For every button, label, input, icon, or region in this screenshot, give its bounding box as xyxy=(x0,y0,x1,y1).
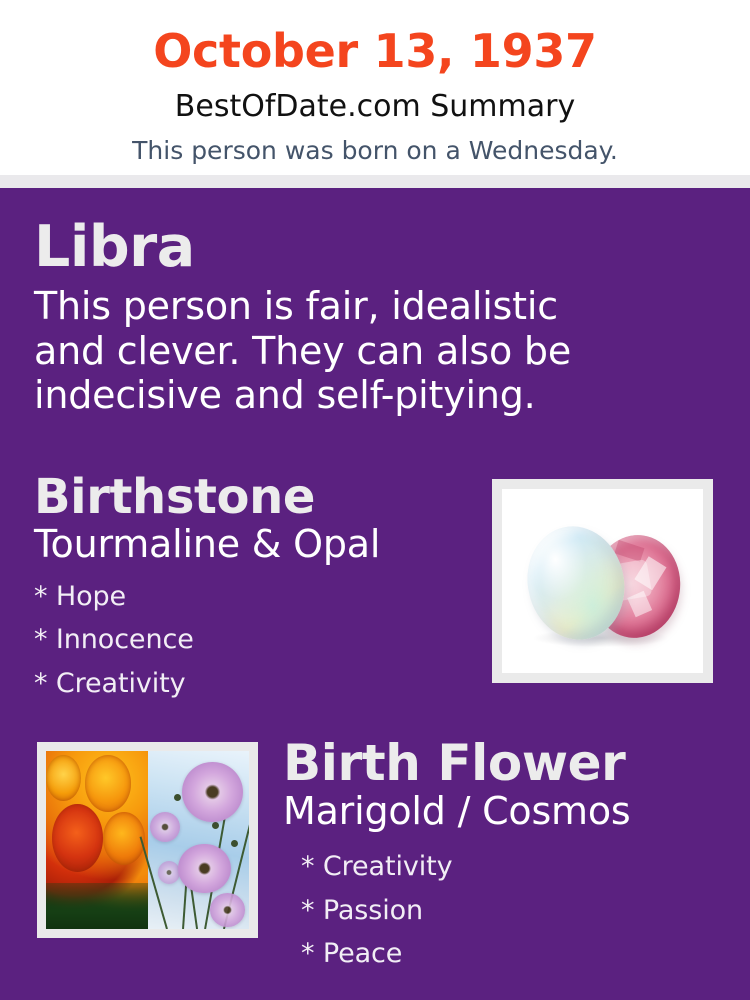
page-title: October 13, 1937 xyxy=(0,0,750,74)
cosmos-bloom xyxy=(178,844,231,894)
cosmos-bud xyxy=(231,840,238,847)
marigold-bloom xyxy=(85,755,132,812)
birthstone-image xyxy=(502,489,703,673)
birthstone-value: Tourmaline & Opal xyxy=(34,524,464,566)
marigold-bloom xyxy=(52,804,103,872)
birth-flower-heading: Birth Flower xyxy=(283,738,723,789)
birth-flower-value: Marigold / Cosmos xyxy=(283,791,723,833)
marigold-photo-icon xyxy=(46,751,148,929)
cosmos-photo-icon xyxy=(148,751,250,929)
birthstone-heading: Birthstone xyxy=(34,473,464,522)
cosmos-bloom xyxy=(182,762,243,823)
list-item: * Passion xyxy=(301,889,723,933)
summary-body: Libra This person is fair, idealistic an… xyxy=(0,188,750,1000)
site-summary-label: BestOfDate.com Summary xyxy=(0,74,750,122)
page-header: October 13, 1937 BestOfDate.com Summary … xyxy=(0,0,750,175)
birthstone-image-frame xyxy=(492,479,713,683)
cosmos-bud xyxy=(212,822,219,829)
list-item: * Creativity xyxy=(34,662,464,706)
header-divider xyxy=(0,175,750,188)
birth-flower-trait-list: * Creativity * Passion * Peace xyxy=(301,845,723,976)
cosmos-bloom xyxy=(210,893,245,927)
cosmos-bloom xyxy=(150,812,180,842)
cosmos-bloom xyxy=(158,861,180,884)
zodiac-section: Libra This person is fair, idealistic an… xyxy=(34,218,634,417)
cosmos-bud xyxy=(174,794,181,801)
list-item: * Peace xyxy=(301,932,723,976)
birthstone-trait-list: * Hope * Innocence * Creativity xyxy=(34,575,464,706)
birthstone-section: Birthstone Tourmaline & Opal * Hope * In… xyxy=(34,473,464,706)
birth-flower-image-frame xyxy=(37,742,258,938)
list-item: * Innocence xyxy=(34,618,464,662)
birth-flower-section: Birth Flower Marigold / Cosmos * Creativ… xyxy=(283,738,723,976)
zodiac-description: This person is fair, idealistic and clev… xyxy=(34,284,634,417)
birth-flower-image xyxy=(46,751,249,929)
zodiac-sign-name: Libra xyxy=(34,218,634,276)
list-item: * Creativity xyxy=(301,845,723,889)
list-item: * Hope xyxy=(34,575,464,619)
marigold-bloom xyxy=(46,755,81,801)
born-day-label: This person was born on a Wednesday. xyxy=(0,122,750,163)
marigold-foliage xyxy=(46,883,154,929)
